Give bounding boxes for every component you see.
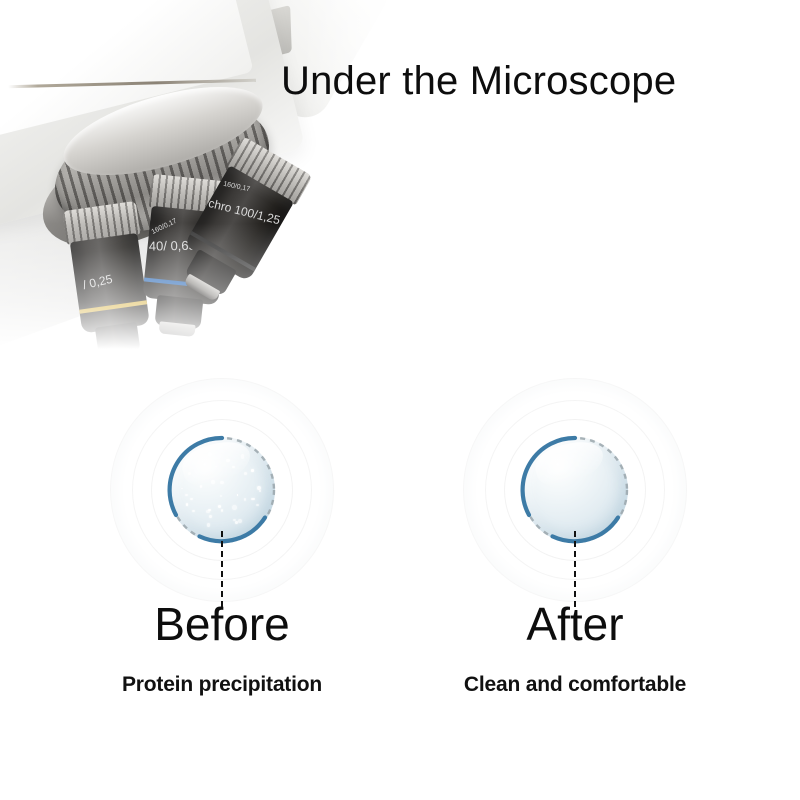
comparison-panel-after: After Clean and comfortable [405, 385, 745, 725]
leader-line-before [221, 531, 223, 607]
objective-front-lens [159, 321, 196, 337]
page-title: Under the Microscope [281, 59, 676, 103]
lens-rim-graphic [166, 434, 278, 546]
leader-line-after [574, 531, 576, 607]
objective-barrel [70, 233, 150, 334]
comparison-panel-before: Before Protein precipitation [52, 385, 392, 725]
heading-after: After [405, 601, 745, 647]
product-infographic: / 0,25 160/0,17 40/ 0,65 160/0,17 chro 1… [0, 0, 800, 800]
caption-before: Protein precipitation [52, 673, 392, 697]
contact-lens-before [166, 434, 278, 546]
lens-rim-graphic [519, 434, 631, 546]
heading-before: Before [52, 601, 392, 647]
caption-after: Clean and comfortable [405, 673, 745, 697]
contact-lens-after [519, 434, 631, 546]
microscope-photo: / 0,25 160/0,17 40/ 0,65 160/0,17 chro 1… [0, 0, 420, 360]
